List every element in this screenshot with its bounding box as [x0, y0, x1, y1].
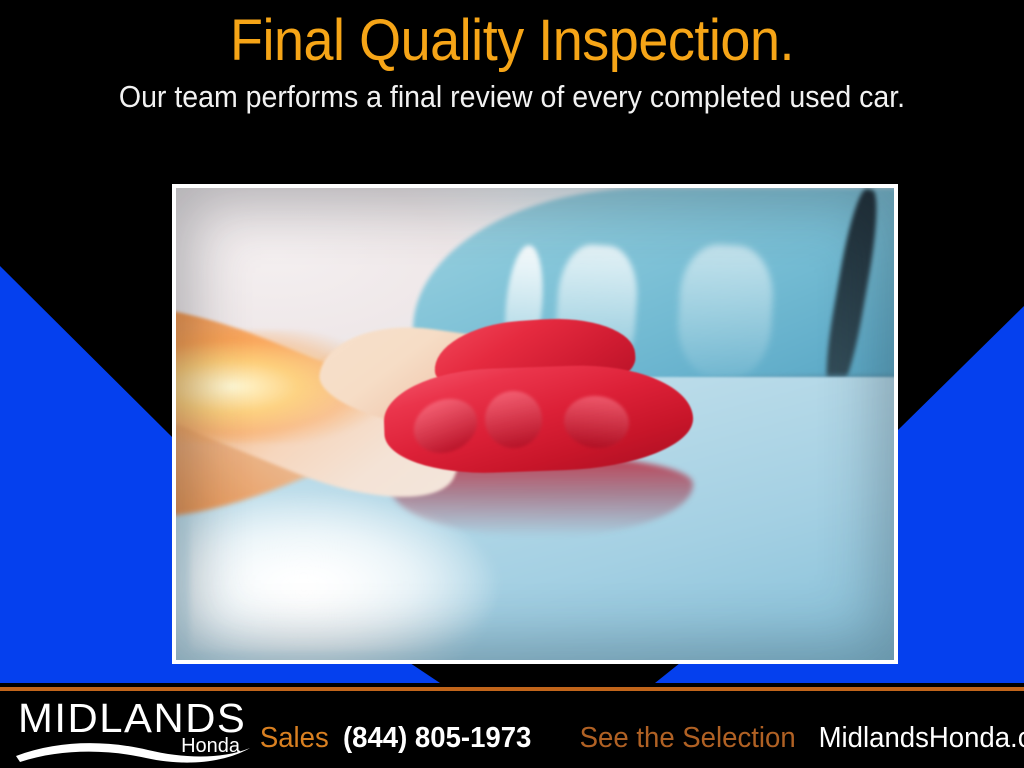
page-subtitle: Our team performs a final review of ever…	[41, 74, 983, 116]
see-the-selection-cta[interactable]: See the Selection	[580, 722, 796, 754]
website-url[interactable]: MidlandsHonda.com	[819, 722, 1024, 754]
blue-band-right	[655, 663, 1024, 683]
blue-band-left	[0, 663, 440, 683]
dealer-logo[interactable]: MIDLANDS Honda	[14, 698, 254, 762]
photo-frame	[172, 184, 898, 664]
sales-label: Sales	[260, 722, 329, 754]
swoosh-icon	[14, 738, 254, 764]
orange-divider	[0, 687, 1024, 691]
blue-shape-left	[0, 266, 172, 683]
photo-glass-highlight	[675, 242, 775, 379]
page-title: Final Quality Inspection.	[36, 0, 988, 74]
headline-block: Final Quality Inspection. Our team perfo…	[0, 0, 1024, 170]
blue-shape-right	[898, 306, 1024, 683]
advertisement-banner: Final Quality Inspection. Our team perfo…	[0, 0, 1024, 768]
footer-contact-row: Sales (844) 805-1973 See the Selection M…	[258, 722, 1024, 762]
detailing-photo	[176, 188, 894, 660]
logo-brand-text: MIDLANDS	[18, 698, 246, 739]
sales-phone-number[interactable]: (844) 805-1973	[343, 722, 531, 754]
